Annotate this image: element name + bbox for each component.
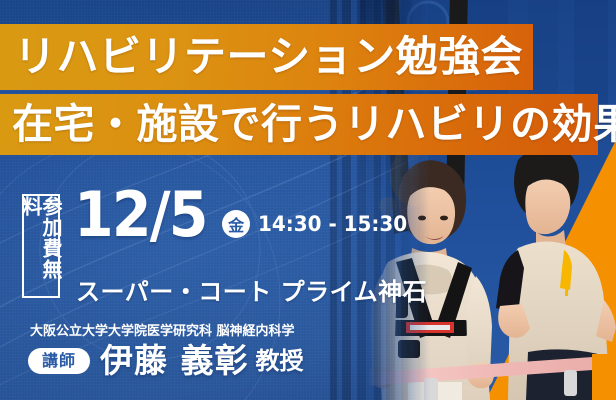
free-admission-badge: 参加費無料 xyxy=(22,194,60,298)
speaker-row: 講師 伊藤 義彰 教授 xyxy=(28,344,304,377)
title-line-2: 在宅・施設で行うリハビリの効果 xyxy=(12,104,616,145)
title-line-1: リハビリテーション勉強会 xyxy=(14,36,523,78)
title-bar-primary: リハビリテーション勉強会 xyxy=(0,24,533,90)
event-time: 14:30 - 15:30 xyxy=(258,212,407,236)
speaker-role-badge: 講師 xyxy=(28,348,90,374)
title-bar-secondary: 在宅・施設で行うリハビリの効果 xyxy=(0,94,598,155)
event-date: 12/5 xyxy=(74,186,207,243)
free-admission-label: 参加費無料 xyxy=(21,196,61,296)
event-poster: リハビリテーション勉強会 在宅・施設で行うリハビリの効果 参加費無料 12/5 … xyxy=(0,0,616,400)
speaker-affiliation: 大阪公立大学大学院医学研究科 脳神経内科学 xyxy=(30,320,295,339)
day-of-week-badge: 金 xyxy=(222,210,250,238)
speaker-academic-title: 教授 xyxy=(256,349,304,373)
orange-corner-strip xyxy=(592,354,616,400)
event-venue: スーパー・コート プライム神石 xyxy=(76,272,427,307)
speaker-name: 伊藤 義彰 xyxy=(100,344,249,377)
event-date-row: 12/5 金 14:30 - 15:30 xyxy=(74,186,415,243)
